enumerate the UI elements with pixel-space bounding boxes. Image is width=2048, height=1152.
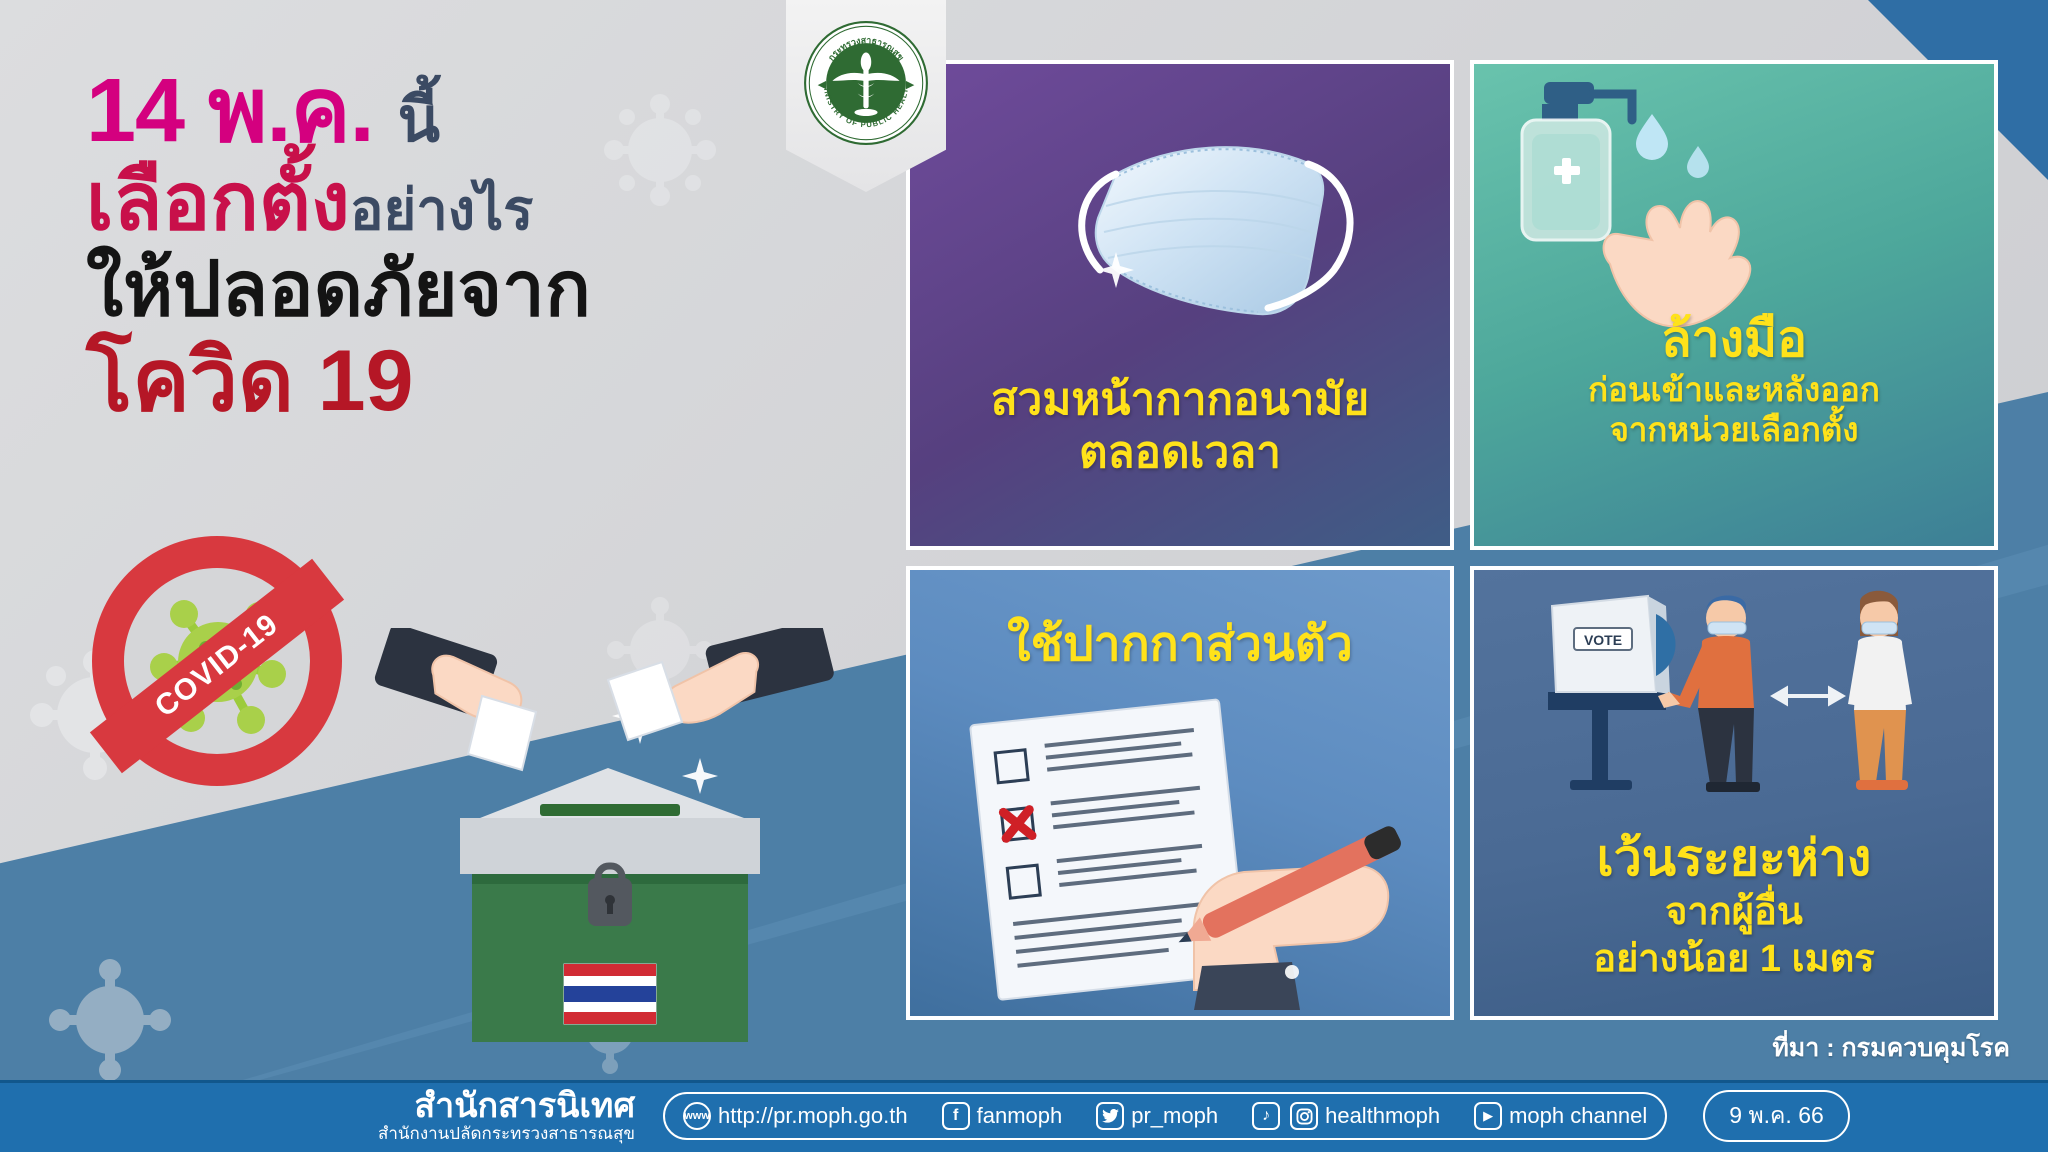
- instagram-glyph: [1296, 1108, 1313, 1125]
- panel-mask-caption-line-1: สวมหน้ากากอนามัย: [910, 373, 1450, 427]
- panel-social-distance: VOTE: [1470, 566, 1998, 1020]
- footer-channel-tiktok[interactable]: ♪: [1252, 1102, 1280, 1130]
- social-distancing-icon: VOTE: [1530, 584, 1960, 814]
- tips-panel-grid: สวมหน้ากากอนามัย ตลอดเวลา: [906, 60, 1998, 1020]
- headline-line-3: ให้ปลอดภัยจาก: [86, 252, 726, 328]
- panel-mask-caption: สวมหน้ากากอนามัย ตลอดเวลา: [910, 373, 1450, 480]
- panel-wash-caption-line-2: ก่อนเข้าและหลังออก: [1474, 370, 1994, 410]
- twitter-bird-glyph: [1102, 1109, 1119, 1123]
- footer-channel-instagram[interactable]: healthmoph: [1290, 1102, 1440, 1130]
- headline-line-1: 14 พ.ค. นี้: [86, 66, 726, 156]
- panel-distance-caption-line-3: อย่างน้อย 1 เมตร: [1474, 936, 1994, 982]
- www-globe-icon: www: [683, 1102, 711, 1130]
- tiktok-icon: ♪: [1252, 1102, 1280, 1130]
- footer-channel-website[interactable]: www http://pr.moph.go.th: [683, 1102, 908, 1130]
- infographic-canvas: 14 พ.ค. นี้ เลือกตั้งอย่างไร ให้ปลอดภัยจ…: [0, 0, 2048, 1152]
- decorative-virus-icon: [40, 950, 180, 1090]
- footer-org-subname: สำนักงานปลัดกระทรวงสาธารณสุข: [378, 1125, 635, 1143]
- footer-content: สำนักสารนิเทศ สำนักงานปลัดกระทรวงสาธารณส…: [0, 1089, 2048, 1143]
- panel-mask-caption-line-2: ตลอดเวลา: [910, 426, 1450, 480]
- panel-distance-caption-line-1: เว้นระยะห่าง: [1474, 828, 1994, 889]
- footer-bar: สำนักสารนิเทศ สำนักงานปลัดกระทรวงสาธารณส…: [0, 1080, 2048, 1152]
- footer-facebook-label: fanmoph: [977, 1103, 1063, 1129]
- twitter-icon: [1096, 1102, 1124, 1130]
- surgical-mask-icon: [1020, 88, 1380, 358]
- ballot-box-scene: [340, 628, 880, 1048]
- panel-pen-caption-line-1: ใช้ปากกาส่วนตัว: [910, 616, 1450, 675]
- source-note: ที่มา : กรมควบคุมโรค: [1772, 1028, 2010, 1068]
- facebook-icon: f: [942, 1102, 970, 1130]
- headline-line-2: เลือกตั้งอย่างไร: [86, 162, 726, 242]
- headline-date-suffix: นี้: [398, 86, 439, 155]
- headline-block: 14 พ.ค. นี้ เลือกตั้งอย่างไร ให้ปลอดภัยจ…: [86, 66, 726, 424]
- panel-wash-hands: ล้างมือ ก่อนเข้าและหลังออก จากหน่วยเลือก…: [1470, 60, 1998, 550]
- footer-channel-twitter[interactable]: pr_moph: [1096, 1102, 1218, 1130]
- panel-personal-pen: ใช้ปากกาส่วนตัว: [906, 566, 1454, 1020]
- ministry-of-public-health-logo: กระทรวงสาธารณสุข MINISTRY OF PUBLIC HEAL…: [803, 20, 929, 146]
- covid-19-stamp: COVID-19: [92, 536, 342, 786]
- headline-election-word: เลือกตั้ง: [86, 157, 350, 246]
- footer-website-label: http://pr.moph.go.th: [718, 1103, 908, 1129]
- footer-instagram-label: healthmoph: [1325, 1103, 1440, 1129]
- panel-wear-mask: สวมหน้ากากอนามัย ตลอดเวลา: [906, 60, 1454, 550]
- panel-wash-caption-line-1: ล้างมือ: [1474, 309, 1994, 370]
- headline-date: 14 พ.ค.: [86, 61, 374, 161]
- panel-wash-caption: ล้างมือ ก่อนเข้าและหลังออก จากหน่วยเลือก…: [1474, 309, 1994, 451]
- youtube-icon: ▶: [1474, 1102, 1502, 1130]
- footer-youtube-label: moph channel: [1509, 1103, 1647, 1129]
- footer-channel-youtube[interactable]: ▶ moph channel: [1474, 1102, 1647, 1130]
- footer-twitter-label: pr_moph: [1131, 1103, 1218, 1129]
- panel-distance-caption-line-2: จากผู้อื่น: [1474, 889, 1994, 935]
- footer-org: สำนักสารนิเทศ สำนักงานปลัดกระทรวงสาธารณส…: [378, 1089, 635, 1143]
- footer-channel-facebook[interactable]: f fanmoph: [942, 1102, 1063, 1130]
- panel-wash-caption-line-3: จากหน่วยเลือกตั้ง: [1474, 410, 1994, 450]
- headline-line-4: โควิด 19: [86, 338, 726, 424]
- footer-org-name: สำนักสารนิเทศ: [378, 1089, 635, 1125]
- panel-distance-caption: เว้นระยะห่าง จากผู้อื่น อย่างน้อย 1 เมตร: [1474, 828, 1994, 982]
- panel-pen-caption: ใช้ปากกาส่วนตัว: [910, 616, 1450, 675]
- footer-accent-line: [0, 1080, 2048, 1083]
- vote-booth-label: VOTE: [1584, 632, 1622, 648]
- ballot-pen-icon: [944, 690, 1424, 1010]
- headline-how-word: อย่างไร: [350, 178, 533, 241]
- footer-channels-pill: www http://pr.moph.go.th f fanmoph pr_mo…: [663, 1092, 1667, 1140]
- instagram-icon: [1290, 1102, 1318, 1130]
- footer-date-badge: 9 พ.ค. 66: [1703, 1090, 1849, 1142]
